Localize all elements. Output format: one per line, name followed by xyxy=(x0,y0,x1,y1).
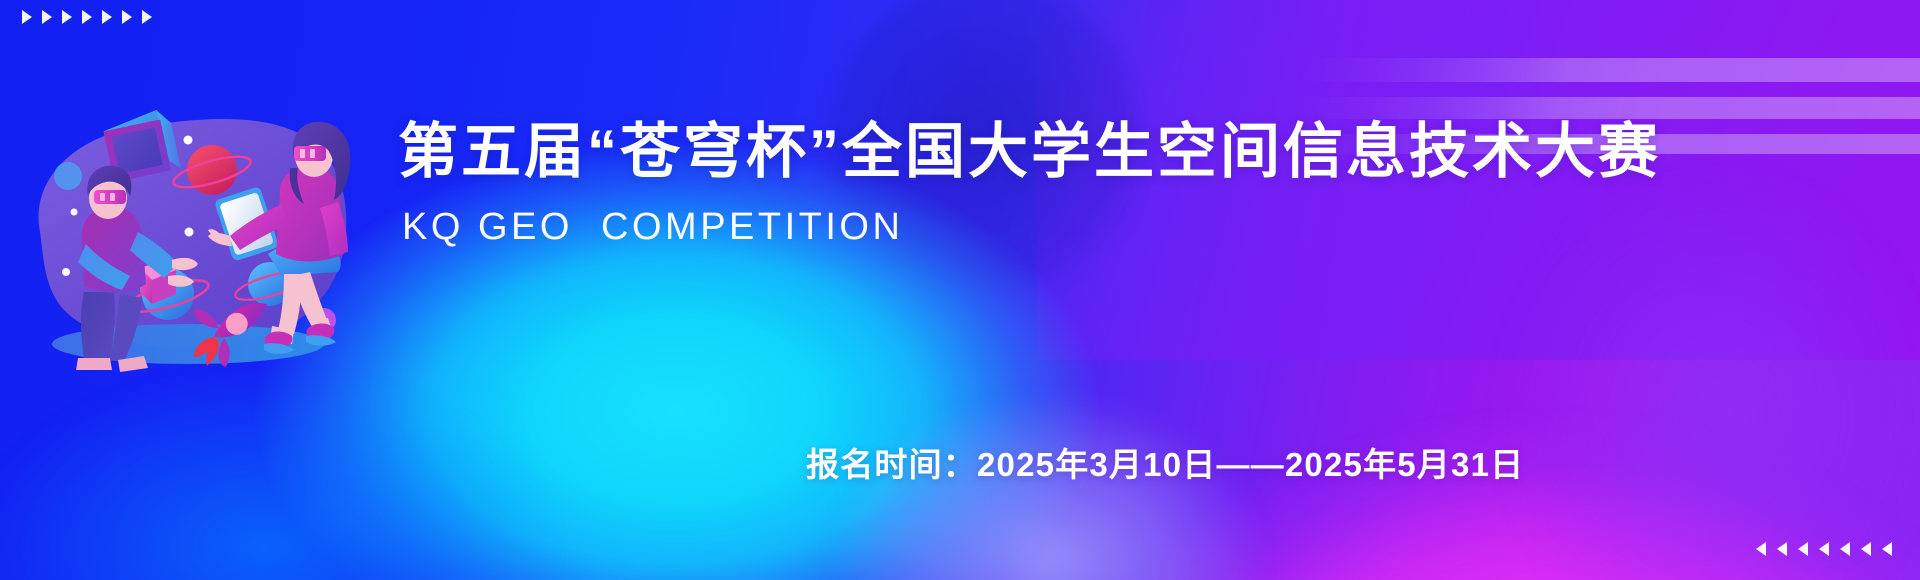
arrow-left-icon xyxy=(1861,542,1871,556)
arrow-row-top-left xyxy=(22,10,152,24)
banner-text-block: 第五届“苍穹杯”全国大学生空间信息技术大赛 KQ GEO COMPETITION xyxy=(398,118,1898,249)
arrow-right-icon xyxy=(102,10,112,24)
white-dot xyxy=(185,228,194,237)
white-dot xyxy=(62,268,70,276)
banner-title-english: KQ GEO COMPETITION xyxy=(402,207,1898,249)
white-dot xyxy=(184,136,193,145)
registration-date-text: 报名时间：2025年3月10日——2025年5月31日 xyxy=(806,438,1524,486)
arrow-right-icon xyxy=(42,10,52,24)
banner-title-chinese: 第五届“苍穹杯”全国大学生空间信息技术大赛 xyxy=(398,118,1898,185)
arrow-left-icon xyxy=(1819,542,1829,556)
white-dot xyxy=(71,209,78,216)
vr-space-illustration xyxy=(22,72,352,372)
arrow-right-icon xyxy=(122,10,132,24)
arrow-right-icon xyxy=(82,10,92,24)
arrow-right-icon xyxy=(22,10,32,24)
competition-banner: 第五届“苍穹杯”全国大学生空间信息技术大赛 KQ GEO COMPETITION… xyxy=(0,0,1920,580)
arrow-right-icon xyxy=(142,10,152,24)
arrow-left-icon xyxy=(1840,542,1850,556)
arrow-left-icon xyxy=(1777,542,1787,556)
stripe-1 xyxy=(1300,58,1920,82)
small-blue-sphere xyxy=(54,162,82,190)
arrow-left-icon xyxy=(1798,542,1808,556)
stripe-2 xyxy=(1300,97,1920,119)
arrow-left-icon xyxy=(1756,542,1766,556)
arrow-right-icon xyxy=(62,10,72,24)
arrow-row-bottom-right xyxy=(1756,542,1892,556)
arrow-left-icon xyxy=(1882,542,1892,556)
